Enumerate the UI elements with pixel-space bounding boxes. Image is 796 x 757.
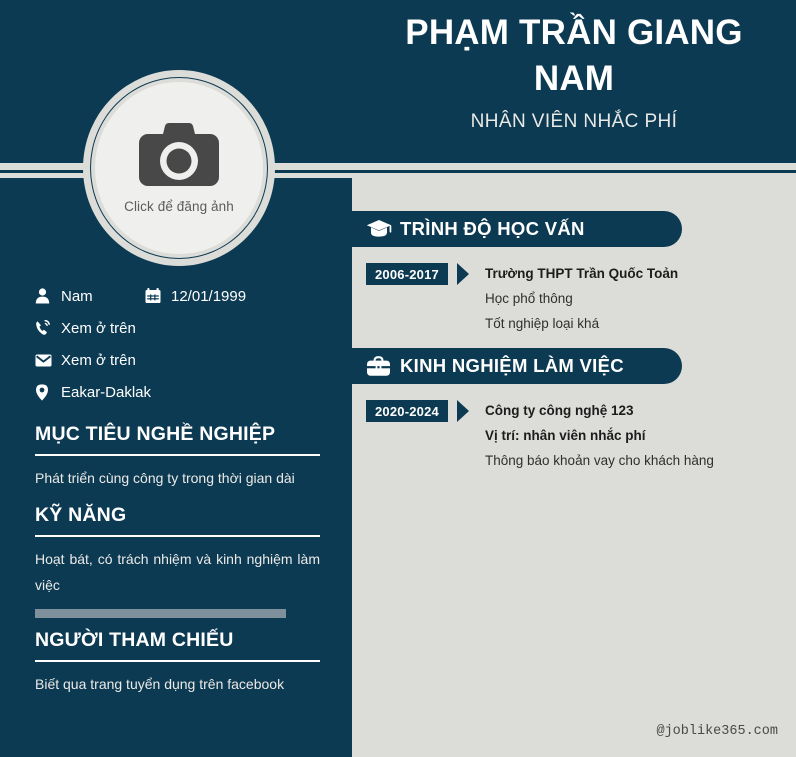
sidebar-section-skills: KỸ NĂNG Hoạt bát, có trách nhiệm và kinh… xyxy=(35,504,320,618)
graduation-cap-icon xyxy=(366,219,396,239)
sidebar-section-skills-body[interactable]: Hoạt bát, có trách nhiệm và kinh nghiệm … xyxy=(35,547,320,599)
experience-entry-arrow-icon xyxy=(457,400,469,422)
contact-email-value: Xem ở trên xyxy=(61,352,136,369)
sidebar-section-references-heading: NGƯỜI THAM CHIẾU xyxy=(35,629,320,652)
experience-entry-date[interactable]: 2020-2024 xyxy=(366,400,448,422)
contact-row-address[interactable]: Eakar-Daklak xyxy=(35,376,335,408)
contact-address-value: Eakar-Daklak xyxy=(61,384,151,401)
experience-entry-line[interactable]: Công ty công nghệ 123 xyxy=(485,398,785,423)
experience-entry-body: Công ty công nghệ 123 Vị trí: nhân viên … xyxy=(485,398,785,473)
envelope-icon xyxy=(35,354,61,367)
person-icon xyxy=(35,288,61,304)
sidebar-section-references-rule xyxy=(35,660,320,662)
candidate-job-title[interactable]: NHÂN VIÊN NHẮC PHÍ xyxy=(352,111,796,133)
education-entry-line[interactable]: Tốt nghiệp loại khá xyxy=(485,311,785,336)
watermark: @joblike365.com xyxy=(656,724,778,739)
sidebar-section-objective-heading: MỤC TIÊU NGHỀ NGHIỆP xyxy=(35,423,320,446)
contact-row-email[interactable]: Xem ở trên xyxy=(35,344,335,376)
contact-birthday[interactable]: 12/01/1999 xyxy=(145,288,246,305)
sidebar-section-objective: MỤC TIÊU NGHỀ NGHIỆP Phát triển cùng côn… xyxy=(35,423,320,492)
education-entry-line[interactable]: Trường THPT Trần Quốc Toản xyxy=(485,261,785,286)
experience-entry-line[interactable]: Thông báo khoản vay cho khách hàng xyxy=(485,448,785,473)
experience-entry-line[interactable]: Vị trí: nhân viên nhắc phí xyxy=(485,423,785,448)
cv-template: PHẠM TRẦN GIANG NAM NHÂN VIÊN NHẮC PHÍ C… xyxy=(0,0,796,757)
contact-list: Nam 12/01/1999 xyxy=(35,280,335,408)
photo-inner-circle[interactable]: Click để đăng ảnh xyxy=(95,82,263,254)
sidebar-section-objective-rule xyxy=(35,454,320,456)
briefcase-icon xyxy=(366,356,396,377)
sidebar-section-references-body[interactable]: Biết qua trang tuyển dụng trên facebook xyxy=(35,672,320,698)
skill-level-bar[interactable] xyxy=(35,609,286,618)
education-entry-arrow-icon xyxy=(457,263,469,285)
education-entry-date[interactable]: 2006-2017 xyxy=(366,263,448,285)
phone-icon xyxy=(35,320,61,336)
photo-upload-label: Click để đăng ảnh xyxy=(124,199,234,214)
map-pin-icon xyxy=(35,384,61,401)
contact-gender[interactable]: Nam xyxy=(35,288,145,305)
calendar-icon xyxy=(145,288,171,304)
main-content: TRÌNH ĐỘ HỌC VẤN 2006-2017 Trường THPT T… xyxy=(352,178,796,757)
contact-phone-value: Xem ở trên xyxy=(61,320,136,337)
candidate-name[interactable]: PHẠM TRẦN GIANG NAM xyxy=(352,10,796,101)
sidebar-section-references: NGƯỜI THAM CHIẾU Biết qua trang tuyển dụ… xyxy=(35,629,320,698)
sidebar-section-objective-body[interactable]: Phát triển cùng công ty trong thời gian … xyxy=(35,466,320,492)
contact-birthday-value: 12/01/1999 xyxy=(171,288,246,305)
contact-gender-value: Nam xyxy=(61,288,93,305)
sidebar-section-skills-heading: KỸ NĂNG xyxy=(35,504,320,527)
contact-row-phone[interactable]: Xem ở trên xyxy=(35,312,335,344)
contact-row-gender-birthday: Nam 12/01/1999 xyxy=(35,280,335,312)
education-entry-line[interactable]: Học phổ thông xyxy=(485,286,785,311)
name-block: PHẠM TRẦN GIANG NAM NHÂN VIÊN NHẮC PHÍ xyxy=(352,10,796,133)
section-header-education[interactable]: TRÌNH ĐỘ HỌC VẤN xyxy=(352,211,682,247)
section-header-experience[interactable]: KINH NGHIỆM LÀM VIỆC xyxy=(352,348,682,384)
section-header-experience-label: KINH NGHIỆM LÀM VIỆC xyxy=(400,355,624,377)
education-entry-body: Trường THPT Trần Quốc Toản Học phổ thông… xyxy=(485,261,785,336)
photo-upload-area[interactable]: Click để đăng ảnh xyxy=(83,70,275,266)
section-header-education-label: TRÌNH ĐỘ HỌC VẤN xyxy=(400,218,585,240)
camera-icon xyxy=(135,122,223,190)
sidebar-section-skills-rule xyxy=(35,535,320,537)
